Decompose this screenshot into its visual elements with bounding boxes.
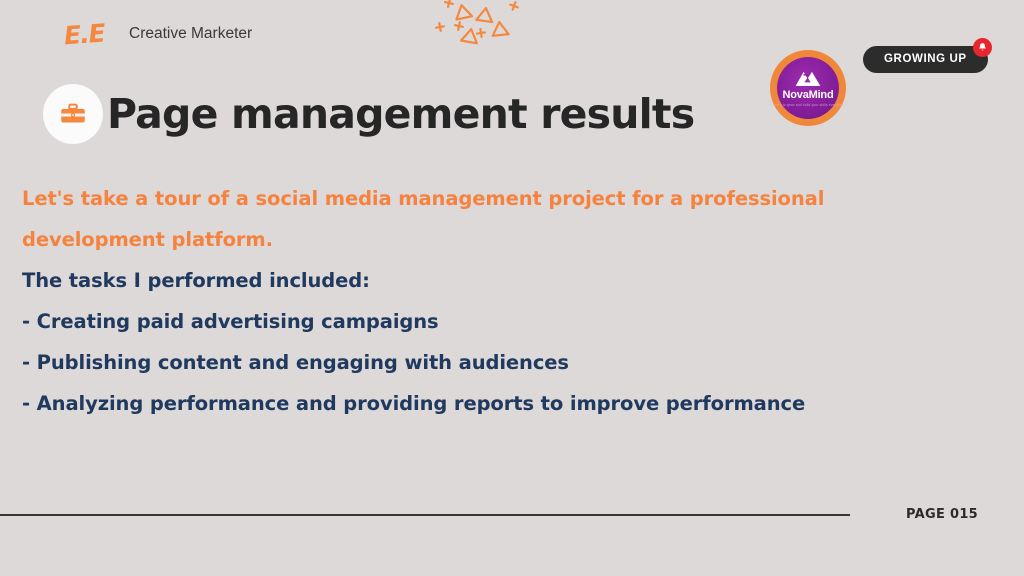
slide-canvas: E.E Creative Marketer NovaMind Learn to … (0, 0, 1024, 576)
bell-icon (977, 42, 988, 53)
briefcase-icon (58, 99, 88, 129)
body-line-intro-1: Let's take a tour of a social media mana… (22, 178, 982, 219)
body-line-intro-2: development platform. (22, 219, 982, 260)
novamind-logo: NovaMind Learn to grow and build your sk… (770, 50, 846, 126)
body-line-bullet-3: - Analyzing performance and providing re… (22, 383, 982, 424)
growing-up-label[interactable]: GROWING UP (863, 46, 988, 73)
novamind-peak-mark-icon (793, 68, 823, 88)
body-line-tasks-heading: The tasks I performed included: (22, 260, 982, 301)
body-line-bullet-2: - Publishing content and engaging with a… (22, 342, 982, 383)
body-line-bullet-1: - Creating paid advertising campaigns (22, 301, 982, 342)
confetti-decoration-icon (430, 0, 550, 56)
body-copy: Let's take a tour of a social media mana… (22, 178, 982, 424)
page-title: Page management results (107, 90, 694, 138)
brand-logo-ee: E.E (63, 19, 106, 51)
page-number-label: PAGE 015 (906, 507, 978, 522)
brand-role-label: Creative Marketer (129, 25, 252, 43)
novamind-logo-subtitle: Learn to grow and build your skills ever… (773, 104, 844, 107)
briefcase-icon-circle (43, 84, 103, 144)
notification-bell-badge[interactable] (973, 38, 992, 57)
growing-up-badge[interactable]: GROWING UP (863, 46, 988, 73)
novamind-logo-name: NovaMind (783, 90, 834, 101)
page-title-row: Page management results (43, 84, 694, 144)
footer-divider (0, 514, 850, 516)
novamind-logo-disc: NovaMind Learn to grow and build your sk… (777, 57, 839, 119)
